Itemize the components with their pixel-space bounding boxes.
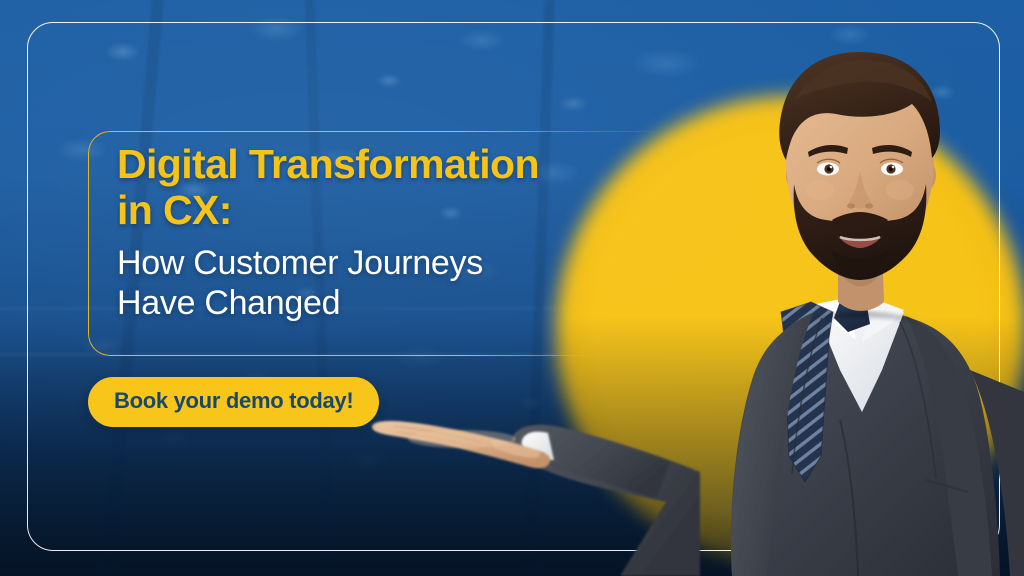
text-content-block: Digital Transformation in CX: How Custom… [117,142,677,323]
subheadline: How Customer Journeys Have Changed [117,243,677,323]
headline-line-2: in CX: [117,188,677,234]
subheadline-line-2: Have Changed [117,283,677,323]
headline-line-1: Digital Transformation [117,141,539,187]
headline: Digital Transformation in CX: [117,142,677,234]
promotional-banner: Digital Transformation in CX: How Custom… [0,0,1024,576]
book-demo-button[interactable]: Book your demo today! [88,377,379,427]
subheadline-line-1: How Customer Journeys [117,244,483,282]
